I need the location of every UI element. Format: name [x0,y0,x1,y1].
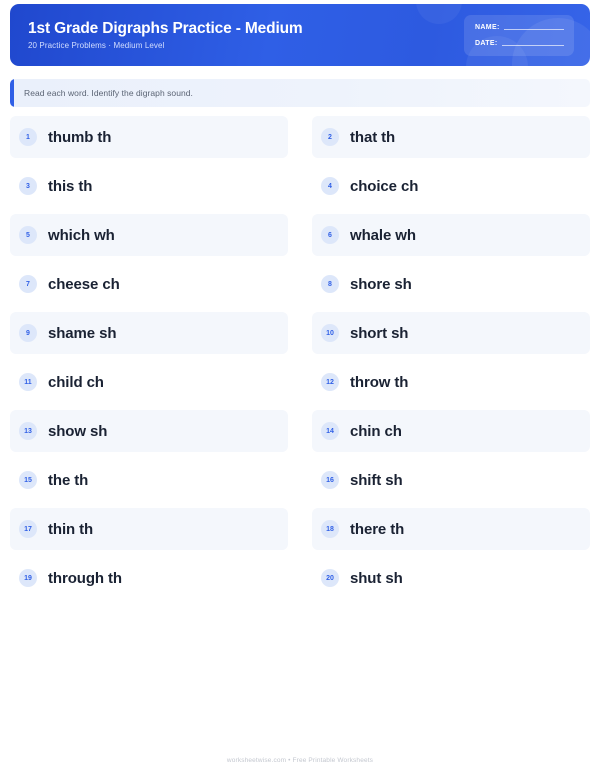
problem-word: shift sh [350,472,403,489]
problem-item[interactable]: 18there th [312,508,590,550]
problem-number-badge: 8 [321,275,339,293]
problem-item[interactable]: 14chin ch [312,410,590,452]
page-title: 1st Grade Digraphs Practice - Medium [28,20,464,38]
problem-number-badge: 3 [19,177,37,195]
problem-word: shore sh [350,276,412,293]
problem-item[interactable]: 10short sh [312,312,590,354]
problem-word: there th [350,521,404,538]
problem-word: throw th [350,374,408,391]
problem-number-badge: 12 [321,373,339,391]
problem-word: thin th [48,521,93,538]
problem-item[interactable]: 20shut sh [312,557,590,599]
problem-item[interactable]: 13show sh [10,410,288,452]
date-label: DATE: [475,40,498,47]
problem-number-badge: 11 [19,373,37,391]
problem-item[interactable]: 4choice ch [312,165,590,207]
problem-number-badge: 10 [321,324,339,342]
problem-item[interactable]: 19through th [10,557,288,599]
problem-word: show sh [48,423,107,440]
problem-number-badge: 2 [321,128,339,146]
problem-number-badge: 16 [321,471,339,489]
problem-item[interactable]: 3this th [10,165,288,207]
header-text-group: 1st Grade Digraphs Practice - Medium 20 … [10,20,464,51]
instruction-text: Read each word. Identify the digraph sou… [10,88,193,98]
problem-item[interactable]: 15the th [10,459,288,501]
problem-word: the th [48,472,88,489]
problem-item[interactable]: 17thin th [10,508,288,550]
problem-word: short sh [350,325,408,342]
name-label: NAME: [475,24,500,31]
problem-number-badge: 13 [19,422,37,440]
name-write-line[interactable] [504,29,564,30]
problem-number-badge: 18 [321,520,339,538]
worksheet-header: 1st Grade Digraphs Practice - Medium 20 … [10,4,590,66]
problem-number-badge: 5 [19,226,37,244]
name-date-box: NAME: DATE: [464,15,574,56]
problem-item[interactable]: 5which wh [10,214,288,256]
problem-number-badge: 14 [321,422,339,440]
problem-grid: 1thumb th2that th3this th4choice ch5whic… [10,116,590,606]
problem-word: cheese ch [48,276,120,293]
problem-word: shame sh [48,325,116,342]
problem-item[interactable]: 16shift sh [312,459,590,501]
problem-item[interactable]: 12throw th [312,361,590,403]
problem-number-badge: 6 [321,226,339,244]
problem-word: this th [48,178,92,195]
problem-word: choice ch [350,178,418,195]
problem-number-badge: 4 [321,177,339,195]
problem-item[interactable]: 6whale wh [312,214,590,256]
problem-word: child ch [48,374,104,391]
problem-word: which wh [48,227,115,244]
problem-number-badge: 9 [19,324,37,342]
worksheet-page: 1st Grade Digraphs Practice - Medium 20 … [0,0,600,776]
name-field-row: NAME: [475,24,564,31]
problem-word: thumb th [48,129,111,146]
instruction-bar: Read each word. Identify the digraph sou… [10,79,590,107]
problem-word: shut sh [350,570,403,587]
problem-number-badge: 20 [321,569,339,587]
date-field-row: DATE: [475,40,564,47]
problem-item[interactable]: 9shame sh [10,312,288,354]
problem-word: through th [48,570,122,587]
problem-item[interactable]: 1thumb th [10,116,288,158]
problem-number-badge: 17 [19,520,37,538]
problem-number-badge: 15 [19,471,37,489]
problem-word: whale wh [350,227,416,244]
problem-item[interactable]: 7cheese ch [10,263,288,305]
problem-item[interactable]: 2that th [312,116,590,158]
problem-number-badge: 7 [19,275,37,293]
problem-item[interactable]: 8shore sh [312,263,590,305]
footer-text: worksheetwise.com • Free Printable Works… [0,757,600,764]
problem-number-badge: 1 [19,128,37,146]
problem-item[interactable]: 11child ch [10,361,288,403]
problem-number-badge: 19 [19,569,37,587]
problem-word: chin ch [350,423,402,440]
date-write-line[interactable] [502,45,564,46]
problem-word: that th [350,129,395,146]
page-subtitle: 20 Practice Problems · Medium Level [28,41,464,50]
